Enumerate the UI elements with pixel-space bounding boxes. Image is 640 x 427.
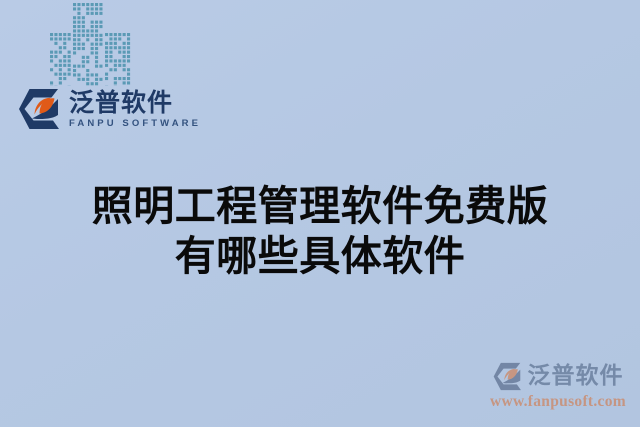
headline: 照明工程管理软件免费版 有哪些具体软件 — [0, 181, 640, 281]
poster-canvas: 泛普软件 FANPU SOFTWARE 照明工程管理软件免费版 有哪些具体软件 … — [0, 0, 640, 427]
fanpu-logo-icon — [493, 362, 523, 391]
watermark-brand-row: 泛普软件 — [493, 362, 624, 391]
headline-line-2: 有哪些具体软件 — [0, 231, 640, 281]
fanpu-logo-icon — [18, 88, 62, 130]
watermark: 泛普软件 www.fanpusoft.com — [490, 362, 626, 410]
brand-name-en: FANPU SOFTWARE — [69, 119, 201, 129]
brand-name-cn: 泛普软件 — [69, 90, 201, 115]
brand-logo: 泛普软件 FANPU SOFTWARE — [18, 88, 201, 130]
headline-line-1: 照明工程管理软件免费版 — [0, 181, 640, 231]
watermark-brand-name: 泛普软件 — [528, 365, 624, 388]
pixel-city-skyline-graphic — [44, 0, 140, 86]
watermark-url: www.fanpusoft.com — [490, 394, 626, 410]
brand-wordmark: 泛普软件 FANPU SOFTWARE — [69, 90, 201, 129]
